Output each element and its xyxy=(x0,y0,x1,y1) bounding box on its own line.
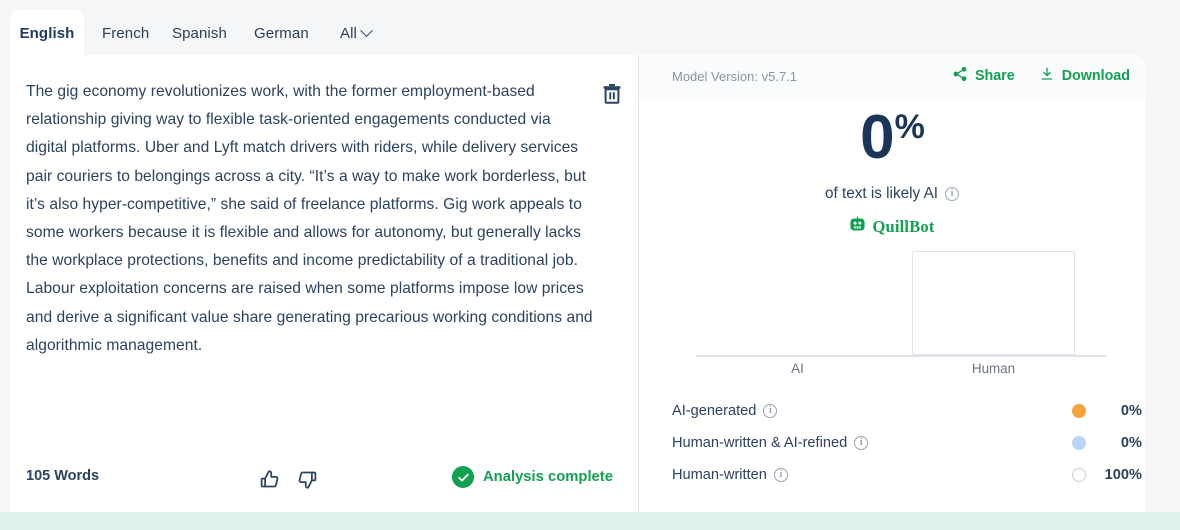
chevron-down-icon xyxy=(360,24,373,37)
tab-french-label: French xyxy=(102,25,149,42)
editor-footer: 105 Words xyxy=(10,450,638,512)
trash-icon[interactable] xyxy=(598,79,626,107)
info-icon[interactable]: i xyxy=(854,436,868,450)
chart-x-axis xyxy=(696,355,1106,357)
tab-german-label: German xyxy=(254,25,309,42)
tab-all[interactable]: All xyxy=(326,10,385,56)
breakdown-label-text: Human-written & AI-refined xyxy=(672,435,847,451)
share-button[interactable]: Share xyxy=(952,66,1015,86)
breakdown-list: AI-generated i 0% Human-written & AI-ref… xyxy=(672,395,1142,491)
quillbot-brand-name: QuillBot xyxy=(872,217,934,237)
tab-spanish[interactable]: Spanish xyxy=(158,10,241,56)
thumbs-up-icon[interactable] xyxy=(254,464,284,494)
ai-score-caption-row: of text is likely AI i xyxy=(639,185,1145,203)
bar-human xyxy=(912,251,1075,355)
language-tab-bar: English French Spanish German All xyxy=(0,0,1180,56)
tab-all-label: All xyxy=(340,25,357,42)
chart-tick-ai: AI xyxy=(716,361,879,376)
breakdown-dot-human-written xyxy=(1072,468,1086,482)
tab-french[interactable]: French xyxy=(88,10,163,56)
breakdown-value-ai-generated: 0% xyxy=(1086,403,1142,419)
ai-score-caption: of text is likely AI xyxy=(825,185,938,203)
results-panel: Model Version: v5.7.1 Share xyxy=(639,55,1145,512)
info-icon[interactable]: i xyxy=(945,187,959,201)
ai-score-unit: % xyxy=(895,107,924,147)
ai-detector-page: English French Spanish German All The gi… xyxy=(0,0,1180,530)
tab-english-label: English xyxy=(20,25,75,42)
breakdown-dot-human-written-ai-refined xyxy=(1072,436,1086,450)
ai-score-value-wrap: 0 % xyxy=(860,107,924,169)
tab-spanish-label: Spanish xyxy=(172,25,227,42)
analysis-status-label: Analysis complete xyxy=(483,469,613,485)
share-label: Share xyxy=(975,68,1015,84)
quillbot-brand: QuillBot xyxy=(639,216,1145,238)
breakdown-label-text: Human-written xyxy=(672,467,767,483)
breakdown-value-human-written-ai-refined: 0% xyxy=(1086,435,1142,451)
ai-score-value: 0 xyxy=(860,107,893,169)
tab-german[interactable]: German xyxy=(240,10,323,56)
model-version-label: Model Version: v5.7.1 xyxy=(672,69,797,84)
info-icon[interactable]: i xyxy=(774,468,788,482)
chart-tick-human: Human xyxy=(912,361,1075,376)
download-label: Download xyxy=(1062,68,1130,84)
bottom-mint-band xyxy=(0,512,1180,530)
share-icon xyxy=(952,66,968,86)
breakdown-label-human-written: Human-written i xyxy=(672,467,1072,483)
breakdown-label-text: AI-generated xyxy=(672,403,756,419)
list-item[interactable]: Human-written & AI-refined i 0% xyxy=(672,427,1142,459)
ai-human-bar-chart: AI Human xyxy=(696,251,1106,373)
list-item[interactable]: Human-written i 100% xyxy=(672,459,1142,491)
editor-panel: The gig economy revolutionizes work, wit… xyxy=(10,55,638,512)
analysis-status: Analysis complete xyxy=(452,466,613,488)
breakdown-label-ai-generated: AI-generated i xyxy=(672,403,1072,419)
download-button[interactable]: Download xyxy=(1039,66,1130,86)
quillbot-robot-icon xyxy=(849,216,866,238)
ai-score-block: 0 % of text is likely AI i xyxy=(639,107,1145,238)
list-item[interactable]: AI-generated i 0% xyxy=(672,395,1142,427)
breakdown-value-human-written: 100% xyxy=(1086,467,1142,483)
results-actions: Share Download xyxy=(952,66,1130,86)
check-circle-icon xyxy=(452,466,474,488)
breakdown-label-human-written-ai-refined: Human-written & AI-refined i xyxy=(672,435,1072,451)
info-icon[interactable]: i xyxy=(763,404,777,418)
essay-text[interactable]: The gig economy revolutionizes work, wit… xyxy=(26,78,596,360)
thumbs-down-icon[interactable] xyxy=(292,464,322,494)
word-count: 105 Words xyxy=(26,468,99,484)
chart-x-tick-labels: AI Human xyxy=(696,361,1106,381)
chart-plot-area xyxy=(696,251,1106,355)
analysis-card: The gig economy revolutionizes work, wit… xyxy=(10,55,1145,512)
download-icon xyxy=(1039,66,1055,86)
tab-english[interactable]: English xyxy=(10,10,84,56)
breakdown-dot-ai-generated xyxy=(1072,404,1086,418)
